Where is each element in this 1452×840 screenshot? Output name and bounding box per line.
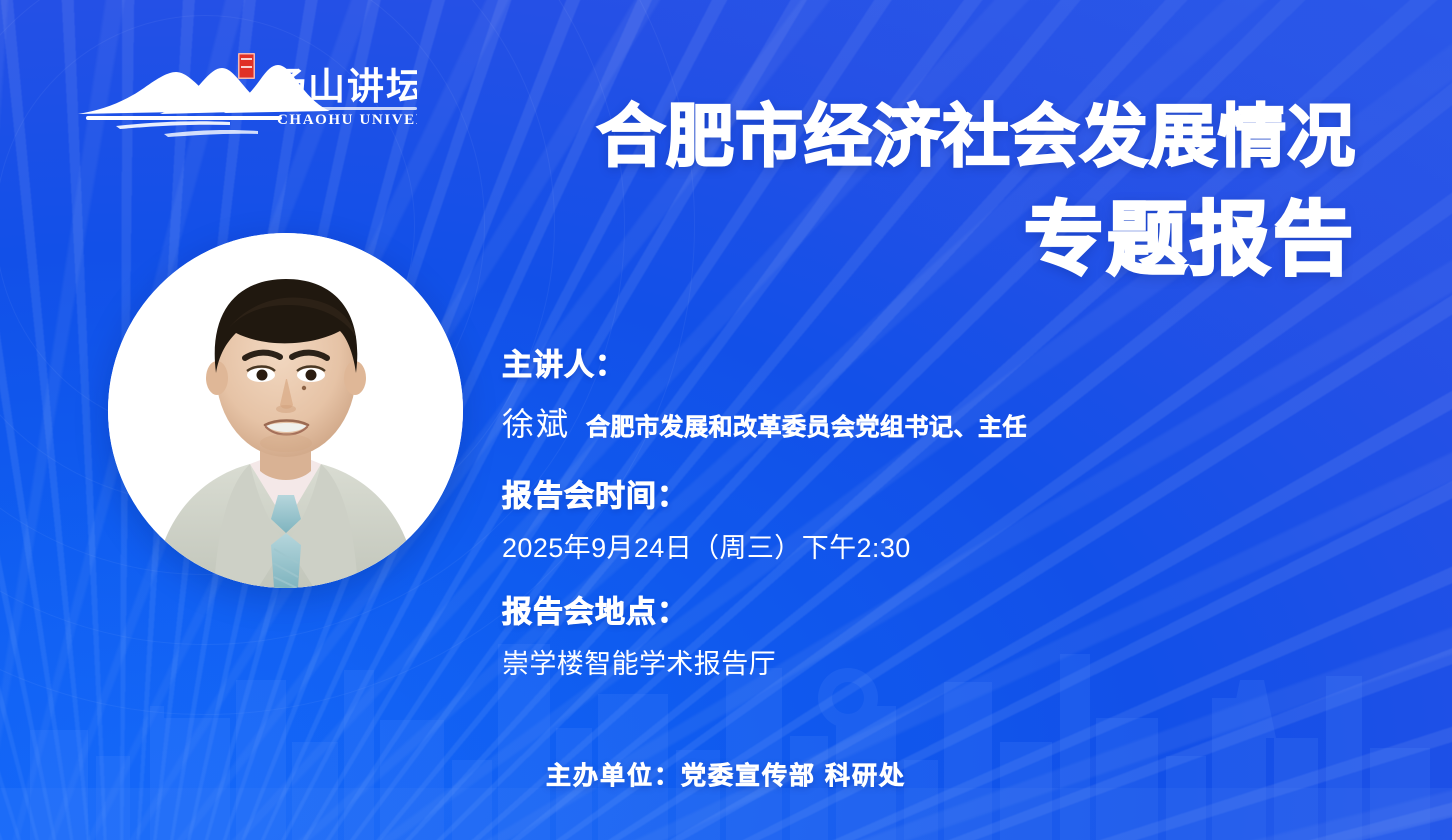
speaker-name: 徐斌: [502, 399, 570, 445]
speaker-portrait-image: [108, 233, 463, 588]
speaker-row: 徐斌 合肥市发展和改革委员会党组书记、主任: [502, 399, 1302, 445]
event-details: 主讲人： 徐斌 合肥市发展和改革委员会党组书记、主任 报告会时间： 2025年9…: [502, 346, 1302, 681]
speaker-label: 主讲人：: [502, 346, 1302, 385]
red-seal-icon: [238, 53, 255, 79]
speaker-title: 合肥市发展和改革委员会党组书记、主任: [586, 407, 1027, 442]
logo-english-text: CHAOHU UNIVERSITY: [277, 112, 417, 128]
venue-label: 报告会地点：: [502, 593, 1302, 632]
venue-value: 崇学楼智能学术报告厅: [502, 642, 1302, 681]
logo-chinese-text: 汤山讲坛: [269, 65, 417, 108]
time-label: 报告会时间：: [502, 477, 1302, 516]
time-value: 2025年9月24日（周三）下午2:30: [502, 526, 1302, 565]
speaker-portrait: [108, 233, 463, 588]
chaohu-university-logo: 汤山讲坛 CHAOHU UNIVERSITY: [72, 52, 417, 147]
event-poster: 汤山讲坛 CHAOHU UNIVERSITY 合肥市经济社会发展情况 专题报告: [0, 0, 1452, 840]
organizer-footer: 主办单位：党委宣传部 科研处: [0, 756, 1452, 792]
poster-headline: 合肥市经济社会发展情况 专题报告: [597, 104, 1356, 280]
headline-line-1: 合肥市经济社会发展情况: [597, 104, 1356, 172]
headline-line-2: 专题报告: [597, 200, 1356, 280]
